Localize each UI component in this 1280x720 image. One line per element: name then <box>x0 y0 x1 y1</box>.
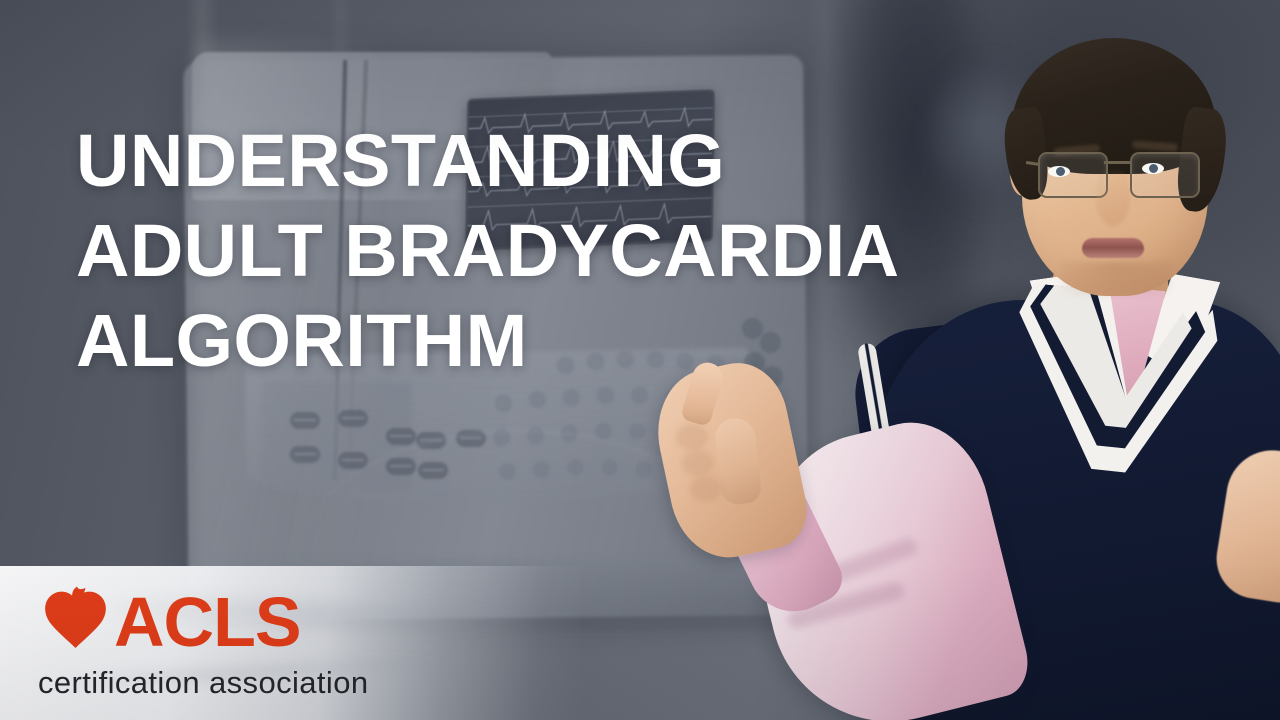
mouth <box>1082 238 1144 258</box>
knuckle <box>690 476 722 502</box>
brand-tagline: certification association <box>38 666 369 700</box>
heart-with-flame-icon <box>38 586 112 658</box>
brand-logo: ACLS <box>38 586 301 658</box>
knuckle <box>676 424 708 450</box>
knuckle <box>682 450 714 476</box>
video-frame: UNDERSTANDING ADULT BRADYCARDIA ALGORITH… <box>0 0 1280 720</box>
nose <box>1096 170 1130 226</box>
brand-name: ACLS <box>114 587 301 657</box>
chin-shadow <box>1062 262 1172 296</box>
